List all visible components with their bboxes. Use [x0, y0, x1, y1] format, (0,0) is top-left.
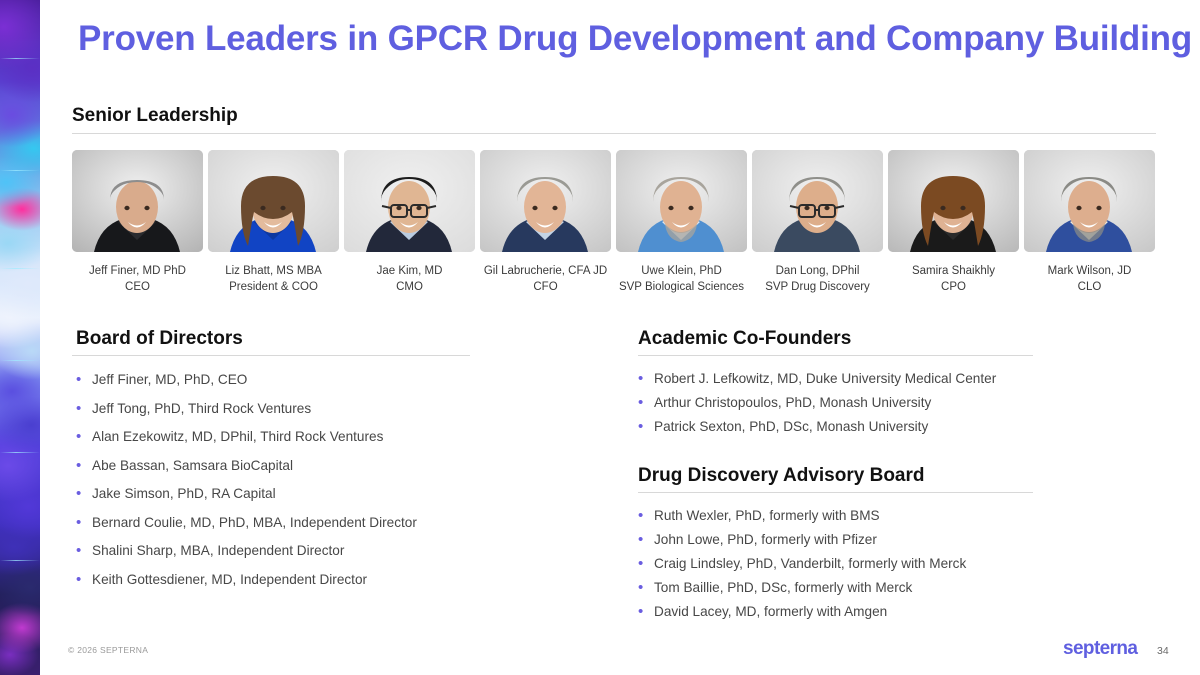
advisor-item-label: John Lowe, PhD, formerly with Pfizer — [654, 528, 877, 552]
academic-cofounders-list: •Robert J. Lefkowitz, MD, Duke Universit… — [638, 367, 1158, 439]
board-member-item: •Bernard Coulie, MD, PhD, MBA, Independe… — [76, 509, 546, 538]
leader-card-2: Liz Bhatt, MS MBAPresident & COO — [208, 150, 339, 295]
headshot-jae-kim — [344, 150, 475, 252]
leader-role: CPO — [888, 279, 1019, 295]
leader-card-6: Dan Long, DPhilSVP Drug Discovery — [752, 150, 883, 295]
leader-card-8: Mark Wilson, JDCLO — [1024, 150, 1155, 295]
leader-card-4: Gil Labrucherie, CFA JDCFO — [480, 150, 611, 295]
page-number: 34 — [1157, 645, 1169, 657]
advisor-item-label: David Lacey, MD, formerly with Amgen — [654, 600, 887, 624]
bullet-icon: • — [76, 509, 92, 538]
bullet-icon: • — [638, 367, 654, 391]
leader-name: Mark Wilson, JD — [1024, 263, 1155, 279]
bullet-icon: • — [76, 423, 92, 452]
bullet-icon: • — [638, 415, 654, 439]
leader-role: CEO — [72, 279, 203, 295]
bullet-icon: • — [638, 576, 654, 600]
leader-role: CLO — [1024, 279, 1155, 295]
advisor-item: •Tom Baillie, PhD, DSc, formerly with Me… — [638, 576, 1158, 600]
advisor-item-label: Craig Lindsley, PhD, Vanderbilt, formerl… — [654, 552, 966, 576]
bullet-icon: • — [638, 528, 654, 552]
section-heading-senior-leadership: Senior Leadership — [72, 105, 238, 127]
divider-drug-discovery-advisory-board — [638, 492, 1033, 493]
leader-role: SVP Drug Discovery — [752, 279, 883, 295]
advisor-item-label: Tom Baillie, PhD, DSc, formerly with Mer… — [654, 576, 912, 600]
advisor-item: •David Lacey, MD, formerly with Amgen — [638, 600, 1158, 624]
headshot-mark-wilson — [1024, 150, 1155, 252]
advisor-item: •Craig Lindsley, PhD, Vanderbilt, former… — [638, 552, 1158, 576]
cofounder-item-label: Arthur Christopoulos, PhD, Monash Univer… — [654, 391, 931, 415]
board-member-item: •Keith Gottesdiener, MD, Independent Dir… — [76, 566, 546, 595]
cofounder-item-label: Patrick Sexton, PhD, DSc, Monash Univers… — [654, 415, 928, 439]
leader-card-1: Jeff Finer, MD PhDCEO — [72, 150, 203, 295]
leader-name: Jae Kim, MD — [344, 263, 475, 279]
bullet-icon: • — [638, 552, 654, 576]
board-member-item: •Abe Bassan, Samsara BioCapital — [76, 452, 546, 481]
cofounder-item-label: Robert J. Lefkowitz, MD, Duke University… — [654, 367, 996, 391]
board-member-item-label: Jeff Finer, MD, PhD, CEO — [92, 366, 247, 395]
leader-card-7: Samira ShaikhlyCPO — [888, 150, 1019, 295]
headshot-jeff-finer — [72, 150, 203, 252]
board-member-item: •Jeff Tong, PhD, Third Rock Ventures — [76, 395, 546, 424]
cofounder-item: •Patrick Sexton, PhD, DSc, Monash Univer… — [638, 415, 1158, 439]
board-member-item: •Shalini Sharp, MBA, Independent Directo… — [76, 537, 546, 566]
board-member-item: •Jeff Finer, MD, PhD, CEO — [76, 366, 546, 395]
copyright-notice: © 2026 SEPTERNA — [68, 645, 148, 655]
divider-senior-leadership — [72, 133, 1156, 134]
headshot-gil-labrucherie — [480, 150, 611, 252]
board-member-item-label: Jeff Tong, PhD, Third Rock Ventures — [92, 395, 311, 424]
slide: Proven Leaders in GPCR Drug Development … — [0, 0, 1200, 675]
leader-name: Gil Labrucherie, CFA JD — [480, 263, 611, 279]
cofounder-item: •Robert J. Lefkowitz, MD, Duke Universit… — [638, 367, 1158, 391]
drug-discovery-advisory-board-list: •Ruth Wexler, PhD, formerly with BMS•Joh… — [638, 504, 1158, 624]
leader-role: President & COO — [208, 279, 339, 295]
headshot-liz-bhatt — [208, 150, 339, 252]
leader-name: Uwe Klein, PhD — [616, 263, 747, 279]
septerna-logo: septerna — [1063, 638, 1137, 660]
bullet-icon: • — [76, 366, 92, 395]
bullet-icon: • — [76, 452, 92, 481]
board-member-item-label: Keith Gottesdiener, MD, Independent Dire… — [92, 566, 367, 595]
leader-name: Samira Shaikhly — [888, 263, 1019, 279]
leader-role: CMO — [344, 279, 475, 295]
leader-card-5: Uwe Klein, PhDSVP Biological Sciences — [616, 150, 747, 295]
section-heading-board-of-directors: Board of Directors — [76, 328, 243, 350]
board-member-item: •Jake Simson, PhD, RA Capital — [76, 480, 546, 509]
bullet-icon: • — [76, 480, 92, 509]
board-member-item-label: Alan Ezekowitz, MD, DPhil, Third Rock Ve… — [92, 423, 383, 452]
advisor-item: •Ruth Wexler, PhD, formerly with BMS — [638, 504, 1158, 528]
cofounder-item: •Arthur Christopoulos, PhD, Monash Unive… — [638, 391, 1158, 415]
section-heading-academic-cofounders: Academic Co-Founders — [638, 328, 851, 350]
leader-role: SVP Biological Sciences — [616, 279, 747, 295]
decorative-edge-image — [0, 0, 40, 675]
section-heading-drug-discovery-advisory-board: Drug Discovery Advisory Board — [638, 465, 925, 487]
leader-name: Dan Long, DPhil — [752, 263, 883, 279]
headshot-samira-shaikhly — [888, 150, 1019, 252]
headshot-dan-long — [752, 150, 883, 252]
headshot-uwe-klein — [616, 150, 747, 252]
advisor-item: •John Lowe, PhD, formerly with Pfizer — [638, 528, 1158, 552]
board-member-item-label: Shalini Sharp, MBA, Independent Director — [92, 537, 344, 566]
board-member-item-label: Jake Simson, PhD, RA Capital — [92, 480, 276, 509]
bullet-icon: • — [76, 566, 92, 595]
leader-role: CFO — [480, 279, 611, 295]
advisor-item-label: Ruth Wexler, PhD, formerly with BMS — [654, 504, 880, 528]
leadership-grid: Jeff Finer, MD PhDCEO Liz Bhatt, MS MBAP… — [72, 150, 1156, 300]
bullet-icon: • — [76, 395, 92, 424]
bullet-icon: • — [638, 600, 654, 624]
bullet-icon: • — [76, 537, 92, 566]
divider-board-of-directors — [72, 355, 470, 356]
divider-academic-cofounders — [638, 355, 1033, 356]
bullet-icon: • — [638, 391, 654, 415]
page-title: Proven Leaders in GPCR Drug Development … — [78, 19, 1192, 59]
bullet-icon: • — [638, 504, 654, 528]
leader-card-3: Jae Kim, MDCMO — [344, 150, 475, 295]
leader-name: Jeff Finer, MD PhD — [72, 263, 203, 279]
board-of-directors-list: •Jeff Finer, MD, PhD, CEO•Jeff Tong, PhD… — [76, 366, 546, 594]
board-member-item-label: Bernard Coulie, MD, PhD, MBA, Independen… — [92, 509, 417, 538]
leader-name: Liz Bhatt, MS MBA — [208, 263, 339, 279]
board-member-item: •Alan Ezekowitz, MD, DPhil, Third Rock V… — [76, 423, 546, 452]
board-member-item-label: Abe Bassan, Samsara BioCapital — [92, 452, 293, 481]
